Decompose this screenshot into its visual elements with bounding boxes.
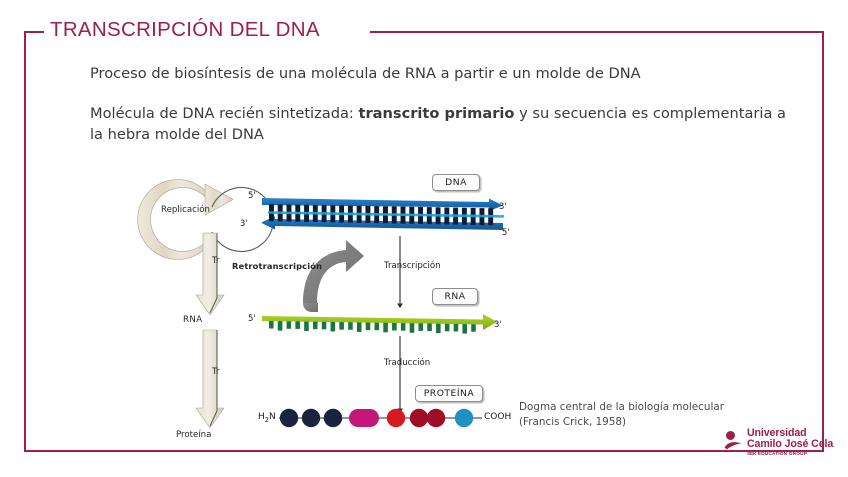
logo-wordmark: Universidad Camilo José Cela SEK EDUCATI… bbox=[747, 428, 833, 457]
label-replicacion: Replicación bbox=[161, 205, 210, 215]
paragraph-definition: Proceso de biosíntesis de una molécula d… bbox=[90, 64, 641, 85]
arrow-dna-to-rna-cycle bbox=[196, 233, 224, 315]
rna-right-prime: 3' bbox=[494, 319, 502, 329]
rna-base bbox=[313, 322, 318, 330]
residue-darkred-1 bbox=[410, 409, 428, 427]
residue-red bbox=[387, 409, 405, 427]
label-traduccion: Traducción bbox=[384, 358, 430, 368]
rna-left-prime: 5' bbox=[248, 313, 256, 323]
protein-c-terminus: COOH bbox=[484, 412, 511, 422]
university-logo: Universidad Camilo José Cela SEK EDUCATI… bbox=[726, 428, 838, 468]
rna-strand bbox=[262, 314, 497, 334]
label-retrotranscripcion: Retrotranscripción bbox=[232, 261, 322, 271]
frame-top-left-stub bbox=[24, 31, 44, 33]
rna-base bbox=[366, 323, 371, 331]
dna-double-strand bbox=[261, 198, 504, 230]
rna-base bbox=[375, 323, 380, 331]
rna-base bbox=[278, 321, 283, 331]
frame-left-rule bbox=[24, 31, 26, 452]
rna-base bbox=[436, 324, 441, 334]
rna-base bbox=[269, 321, 274, 329]
rna-base bbox=[445, 324, 450, 332]
label-proteina-cycle: Proteína bbox=[176, 430, 211, 440]
dna-top-left-prime: 5' bbox=[248, 190, 256, 200]
slide-canvas: TRANSCRIPCIÓN DEL DNA Proceso de biosínt… bbox=[0, 0, 848, 477]
paragraph-emphasis-primary-transcript: transcrito primario bbox=[358, 105, 514, 122]
rna-base bbox=[392, 323, 397, 331]
rna-base bbox=[401, 323, 406, 331]
residue-darkred-2 bbox=[427, 409, 445, 427]
residue-cyan bbox=[455, 409, 473, 427]
caption-line-1: Dogma central de la biología molecular bbox=[519, 400, 724, 415]
tag-rna: RNA bbox=[432, 288, 478, 305]
rna-base bbox=[462, 324, 467, 334]
rna-base bbox=[322, 322, 327, 330]
rna-base bbox=[383, 323, 388, 333]
logo-sek: SEK bbox=[747, 452, 756, 457]
residue-navy-2 bbox=[302, 409, 320, 427]
n-terminus-n: N bbox=[269, 412, 276, 422]
logo-education-group: EDUCATION GROUP bbox=[756, 452, 807, 457]
rna-base bbox=[357, 322, 362, 332]
label-transcripcion: Transcripción bbox=[384, 261, 441, 271]
logo-swoosh-icon bbox=[724, 440, 742, 450]
label-rna-cycle: RNA bbox=[183, 315, 202, 325]
frame-bottom-rule bbox=[24, 450, 824, 452]
frame-top-right-rule bbox=[370, 31, 824, 33]
caption-line-2: (Francis Crick, 1958) bbox=[519, 415, 724, 430]
rna-base bbox=[331, 322, 336, 332]
label-tr-transcription-cycle: Tr bbox=[212, 256, 220, 266]
rna-base bbox=[471, 324, 476, 332]
rna-base bbox=[427, 324, 432, 332]
residue-magenta bbox=[349, 409, 379, 427]
retrotranscription-arrow bbox=[303, 240, 364, 312]
rna-base bbox=[410, 323, 415, 333]
tag-dna: DNA bbox=[432, 174, 480, 191]
n-terminus-h: H bbox=[258, 412, 265, 422]
rna-base bbox=[304, 322, 309, 332]
rna-base bbox=[339, 322, 344, 330]
dna-bottom-left-prime: 3' bbox=[240, 218, 248, 228]
logo-line-sek-education-group: SEK EDUCATION GROUP bbox=[747, 452, 833, 457]
residue-navy-3 bbox=[324, 409, 342, 427]
rna-base bbox=[454, 324, 459, 332]
arrow-rna-to-protein-cycle bbox=[196, 330, 224, 428]
page-title: TRANSCRIPCIÓN DEL DNA bbox=[50, 18, 320, 42]
rna-base bbox=[295, 321, 300, 329]
dna-bottom-right-prime: 5' bbox=[502, 227, 510, 237]
protein-chain bbox=[279, 409, 482, 427]
dna-top-right-prime: 3' bbox=[499, 201, 507, 211]
protein-n-terminus: H2N bbox=[258, 412, 276, 424]
figure-caption: Dogma central de la biología molecular (… bbox=[519, 400, 724, 430]
label-tr-translation-cycle: Tr bbox=[212, 367, 220, 377]
frame-right-rule bbox=[822, 31, 824, 452]
tag-proteina: PROTEÍNA bbox=[415, 385, 483, 402]
rna-base bbox=[418, 323, 423, 331]
logo-dot-icon bbox=[726, 431, 735, 440]
rna-base bbox=[287, 321, 292, 329]
paragraph-primary-transcript: Molécula de DNA recién sintetizada: tran… bbox=[90, 104, 790, 145]
paragraph-text-part-1: Molécula de DNA recién sintetizada: bbox=[90, 105, 358, 122]
residue-navy-1 bbox=[280, 409, 298, 427]
logo-line-camilo-jose-cela: Camilo José Cela bbox=[747, 439, 833, 450]
rna-base bbox=[348, 322, 353, 330]
